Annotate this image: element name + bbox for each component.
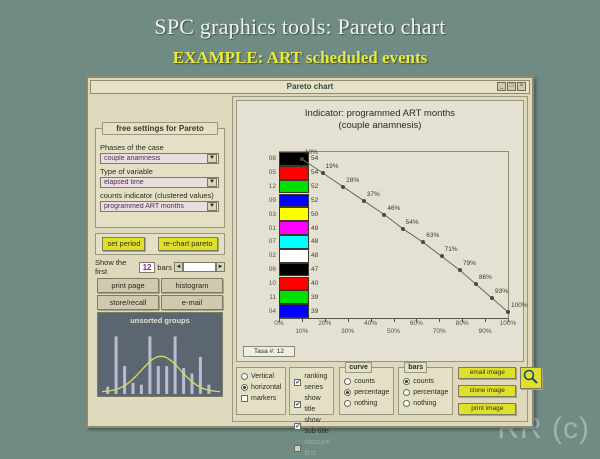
orientation-group: Vertical horizontal markers	[236, 367, 286, 415]
bars-nothing[interactable]: nothing	[403, 398, 448, 409]
bars-count-prefix: Show the first	[95, 258, 137, 276]
chart-title-main: Indicator: programmed ART months	[237, 108, 523, 120]
curve-group: curve counts percentage nothing	[339, 367, 394, 415]
bars-percentage[interactable]: percentage	[403, 387, 448, 398]
checkbox-icon[interactable]: ✔	[294, 401, 301, 408]
chart-title: Indicator: programmed ART months (couple…	[237, 108, 523, 132]
curve-nothing[interactable]: nothing	[344, 398, 389, 409]
radio-icon[interactable]	[344, 389, 351, 396]
print-image-button[interactable]: print image	[458, 403, 516, 415]
thumbnail-bar	[148, 336, 151, 394]
cumulative-point	[401, 227, 405, 231]
counts-indicator-select-value: programmed ART months	[101, 203, 207, 210]
pareto-bar-category: 03	[269, 211, 276, 218]
magnifier-glyph	[521, 368, 541, 386]
radio-icon[interactable]	[403, 389, 410, 396]
orientation-vertical-label: Vertical	[251, 371, 274, 382]
counts-indicator-select[interactable]: programmed ART months ▼	[100, 201, 219, 212]
cumulative-point-label: 63%	[426, 232, 439, 239]
chevron-down-icon[interactable]: ▼	[207, 154, 217, 163]
histogram-button[interactable]: histogram	[161, 278, 223, 293]
thumbnail-bar	[115, 336, 118, 394]
check-obscure-first-label: obscure first	[304, 437, 329, 459]
thumbnail-bar	[140, 385, 143, 394]
bars-group: bars counts percentage nothing	[398, 367, 453, 415]
cumulative-point	[300, 157, 304, 161]
left-control-panel: free settings for Pareto Phases of the c…	[92, 96, 230, 422]
print-page-button[interactable]: print page	[97, 278, 159, 293]
email-button[interactable]: e-mail	[161, 295, 223, 310]
pareto-bar-category: 12	[269, 183, 276, 190]
x-tick-mark	[485, 319, 486, 322]
orientation-horizontal[interactable]: horizontal	[241, 382, 281, 393]
unsorted-groups-svg	[102, 329, 220, 394]
magnifier-icon[interactable]	[520, 367, 542, 389]
unsorted-groups-title: unsorted groups	[98, 316, 222, 325]
cumulative-point-label: 93%	[495, 288, 508, 295]
x-tick-label: 70%	[433, 328, 446, 335]
bars-scrollbar[interactable]: ◄ ►	[174, 262, 225, 272]
thumbnail-bar	[199, 357, 202, 394]
unsorted-groups-plot	[102, 329, 218, 392]
maximize-icon[interactable]: □	[507, 82, 516, 91]
check-show-title-label: show title	[304, 393, 329, 415]
cumulative-point	[321, 171, 325, 175]
check-show-title[interactable]: ✔ show title	[294, 393, 329, 415]
pareto-chart-window: Pareto chart _ □ × free settings for Par…	[86, 76, 534, 428]
x-tick-label: 30%	[341, 328, 354, 335]
scrollbar-track[interactable]	[183, 262, 216, 272]
bars-count-input[interactable]: 12	[139, 262, 156, 273]
pareto-bar-category: 06	[269, 266, 276, 273]
orientation-vertical[interactable]: Vertical	[241, 371, 281, 382]
field-phases-label: Phases of the case	[100, 143, 224, 152]
cumulative-point-label: 37%	[367, 191, 380, 198]
field-phases: Phases of the case couple anamnesis ▼	[96, 143, 224, 164]
checkbox-icon	[294, 445, 301, 452]
check-show-subtitle[interactable]: ✔ show sub-title	[294, 415, 329, 437]
check-ranking-series-label: ranking series	[304, 371, 329, 393]
pareto-bar-category: 09	[269, 197, 276, 204]
check-ranking-series[interactable]: ✔ ranking series	[294, 371, 329, 393]
variable-type-select-value: elapsed time	[101, 179, 207, 186]
chevron-down-icon[interactable]: ▼	[207, 178, 217, 187]
display-checks-group: ✔ ranking series ✔ show title ✔ show sub…	[289, 367, 334, 415]
x-tick-mark	[394, 319, 395, 322]
cumulative-point-label: 71%	[445, 246, 458, 253]
radio-icon[interactable]	[403, 400, 410, 407]
pareto-bar-category: 07	[269, 238, 276, 245]
field-counts-indicator: counts indicator (clustered values) prog…	[96, 191, 224, 212]
markers-label: markers	[251, 393, 276, 404]
chevron-down-icon[interactable]: ▼	[207, 202, 217, 211]
check-obscure-first: obscure first	[294, 437, 329, 459]
chart-surface: Indicator: programmed ART months (couple…	[236, 100, 524, 362]
curve-group-legend: curve	[345, 362, 372, 373]
bars-count-selector: Show the first 12 bars ◄ ►	[95, 259, 225, 275]
radio-icon[interactable]	[344, 400, 351, 407]
thumbnail-bar	[191, 374, 194, 394]
thumbnail-bar	[165, 366, 168, 394]
field-variable-type: Type of variable elapsed time ▼	[96, 167, 224, 188]
curve-counts[interactable]: counts	[344, 376, 389, 387]
x-tick-label: 100%	[500, 320, 517, 327]
page-title: SPC graphics tools: Pareto chart	[0, 14, 600, 40]
page-subtitle: EXAMPLE: ART scheduled events	[0, 48, 600, 68]
variable-type-select[interactable]: elapsed time ▼	[100, 177, 219, 188]
x-tick-mark	[439, 319, 440, 322]
x-tick-label: 0%	[274, 320, 283, 327]
minimize-icon[interactable]: _	[497, 82, 506, 91]
cumulative-point-label: 46%	[387, 205, 400, 212]
x-tick-label: 80%	[456, 320, 469, 327]
x-tick-label: 40%	[364, 320, 377, 327]
image-buttons-group: email image clone image print image	[458, 367, 516, 415]
radio-icon[interactable]	[403, 378, 410, 385]
markers-checkbox[interactable]: markers	[241, 393, 281, 404]
field-variable-type-label: Type of variable	[100, 167, 224, 176]
radio-icon[interactable]	[241, 384, 248, 391]
field-counts-indicator-label: counts indicator (clustered values)	[100, 191, 224, 200]
close-icon[interactable]: ×	[517, 82, 526, 91]
cumulative-point-label: 100%	[511, 302, 528, 309]
thumbnail-bar	[123, 366, 126, 394]
cumulative-point-label: 10%	[305, 149, 318, 156]
radio-icon[interactable]	[344, 378, 351, 385]
re-chart-pareto-button[interactable]: re-chart pareto	[158, 237, 217, 251]
store-recall-button[interactable]: store/recall	[97, 295, 159, 310]
radio-icon[interactable]	[241, 373, 248, 380]
curve-nothing-label: nothing	[354, 398, 377, 409]
x-tick-label: 10%	[295, 328, 308, 335]
clone-image-button[interactable]: clone image	[458, 385, 516, 397]
email-image-button[interactable]: email image	[458, 367, 516, 379]
tasa-footnote: Tasa #: 12	[243, 346, 295, 357]
cumulative-point-label: 19%	[326, 163, 339, 170]
free-settings-group: free settings for Pareto Phases of the c…	[95, 128, 225, 228]
pareto-bar-category: 11	[269, 294, 276, 301]
bars-counts-label: counts	[413, 376, 434, 387]
action-buttons-group: set period re-chart pareto	[95, 233, 225, 255]
phases-select[interactable]: couple anamnesis ▼	[100, 153, 219, 164]
chart-panel: Indicator: programmed ART months (couple…	[232, 96, 528, 422]
bars-percentage-label: percentage	[413, 387, 448, 398]
x-tick-label: 20%	[318, 320, 331, 327]
pareto-bar-category: 08	[269, 155, 276, 162]
curve-percentage[interactable]: percentage	[344, 387, 389, 398]
checkbox-icon[interactable]: ✔	[294, 423, 301, 430]
chart-title-sub: (couple anamnesis)	[237, 120, 523, 132]
free-settings-legend: free settings for Pareto	[102, 122, 218, 135]
bars-count-suffix: bars	[157, 263, 172, 272]
cumulative-point-label: 54%	[406, 219, 419, 226]
cumulative-point	[341, 185, 345, 189]
pareto-bar-category: 04	[269, 308, 276, 315]
bars-nothing-label: nothing	[413, 398, 436, 409]
checkbox-icon[interactable]	[241, 395, 248, 402]
window-title: Pareto chart	[91, 82, 529, 92]
x-tick-mark	[348, 319, 349, 322]
check-show-subtitle-label: show sub-title	[304, 415, 329, 437]
set-period-button[interactable]: set period	[102, 237, 145, 251]
cumulative-point	[506, 310, 510, 314]
options-bar: Vertical horizontal markers ✔ ranking se…	[236, 367, 524, 415]
window-body: free settings for Pareto Phases of the c…	[90, 94, 530, 424]
scroll-left-icon[interactable]: ◄	[174, 262, 183, 272]
pareto-bar-category: 05	[269, 169, 276, 176]
x-tick-label: 60%	[410, 320, 423, 327]
pareto-bar-category: 01	[269, 225, 276, 232]
cumulative-point	[382, 213, 386, 217]
unsorted-groups-thumbnail[interactable]: unsorted groups	[97, 312, 223, 397]
thumbnail-bar	[157, 366, 160, 394]
curve-percentage-label: percentage	[354, 387, 389, 398]
window-controls: _ □ ×	[497, 82, 527, 91]
pareto-plot: 0854055412520952035001490748024806471040…	[279, 151, 509, 319]
phases-select-value: couple anamnesis	[101, 155, 207, 162]
pareto-bar-category: 10	[269, 280, 276, 287]
checkbox-icon[interactable]: ✔	[294, 379, 301, 386]
cumulative-point	[362, 199, 366, 203]
x-tick-label: 50%	[387, 328, 400, 335]
curve-counts-label: counts	[354, 376, 375, 387]
cumulative-point-label: 28%	[346, 177, 359, 184]
bars-counts[interactable]: counts	[403, 376, 448, 387]
cumulative-curve-svg	[279, 152, 508, 319]
x-tick-label: 90%	[479, 328, 492, 335]
cumulative-point-label: 79%	[463, 260, 476, 267]
thumbnail-bar	[132, 383, 135, 394]
bars-group-legend: bars	[404, 362, 427, 373]
cumulative-point-label: 86%	[479, 274, 492, 281]
window-titlebar: Pareto chart _ □ ×	[90, 80, 530, 94]
tool-buttons-group: print page histogram store/recall e-mail	[97, 278, 223, 308]
x-tick-mark	[302, 319, 303, 322]
orientation-horizontal-label: horizontal	[251, 382, 281, 393]
scroll-right-icon[interactable]: ►	[216, 262, 225, 272]
pareto-bar-category: 02	[269, 252, 276, 259]
